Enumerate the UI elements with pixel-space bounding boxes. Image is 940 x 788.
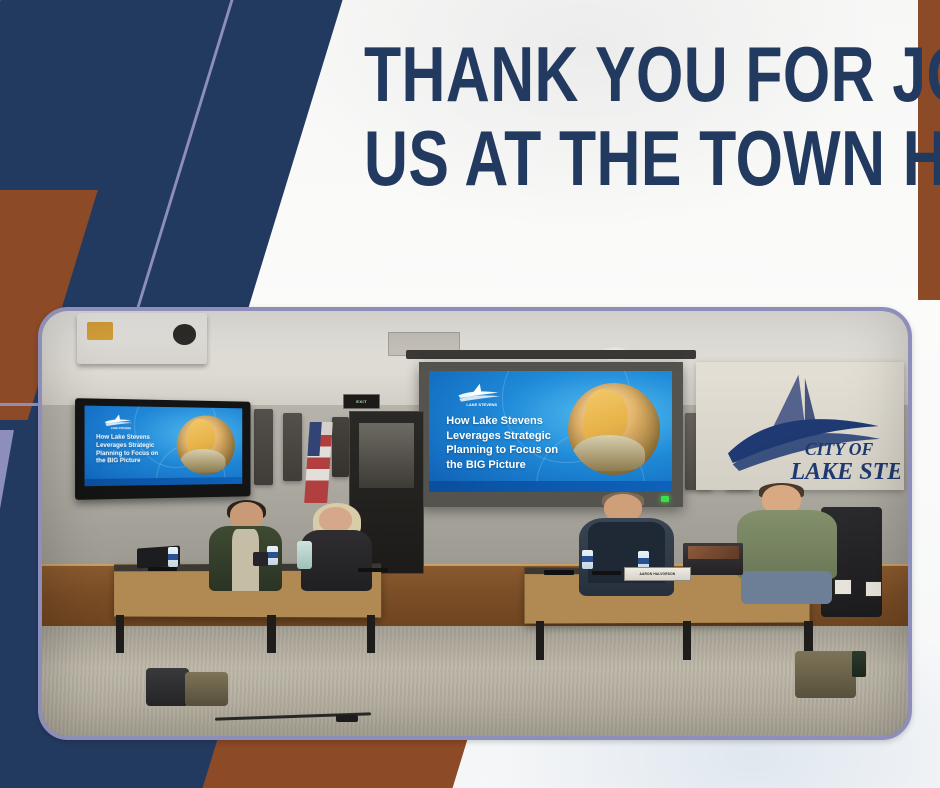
orange-band-bottom <box>193 740 467 788</box>
slide-title-line: How Lake Stevens <box>446 414 577 429</box>
slide-bottom-strip <box>84 477 241 486</box>
tablet-stand <box>683 543 744 575</box>
table-leg <box>116 615 125 653</box>
head <box>230 502 263 529</box>
table-microphone <box>544 570 573 574</box>
slide-title-line: Leverages Strategic <box>446 429 577 444</box>
backpack <box>146 668 189 706</box>
duffel-bag <box>185 672 228 706</box>
lake-stevens-logo-icon: LAKE STEVENS <box>446 382 519 409</box>
floor-shadow <box>42 626 908 669</box>
duffel-bag <box>795 651 856 698</box>
door-window <box>359 423 414 488</box>
projection-screen-roller <box>406 350 696 359</box>
projection-slide: LAKE STEVENS How Lake Stevens Leverages … <box>429 371 672 492</box>
wall-picture-frame <box>865 581 883 597</box>
person-seated-right-2 <box>735 485 839 604</box>
slide-bottom-strip <box>429 481 672 492</box>
acoustic-panel <box>332 417 349 477</box>
tv-slide-title: How Lake Stevens Leverages Strategic Pla… <box>96 435 183 467</box>
water-bottle <box>582 550 593 570</box>
torso <box>737 510 837 579</box>
name-placard: AARON HALVORSON <box>624 567 691 581</box>
table-microphone <box>358 568 387 572</box>
headline-line-2: US AT THE TOWN HALL <box>364 120 910 196</box>
city-of-lake-stevens-sign: CITY OF LAKE STEVENS <box>696 362 904 490</box>
slide-inset-photo <box>568 383 660 475</box>
insulated-tumbler <box>297 541 312 569</box>
head <box>604 494 642 522</box>
slide-title-line: the BIG Picture <box>446 458 577 473</box>
table-leg <box>367 615 376 653</box>
water-bottle <box>267 546 278 566</box>
svg-text:CITY OF: CITY OF <box>805 439 874 459</box>
wall-picture-frame <box>834 579 852 595</box>
table-microphone <box>592 571 621 575</box>
svg-text:LAKE STEVENS: LAKE STEVENS <box>790 459 900 482</box>
exit-sign: EXIT <box>343 394 380 410</box>
acoustic-panel <box>254 409 273 486</box>
svg-text:LAKE STEVENS: LAKE STEVENS <box>110 426 130 430</box>
headline: THANK YOU FOR JOINING US AT THE TOWN HAL… <box>210 36 910 197</box>
wall-mounted-tv: LAKE STEVENS How Lake Stevens Leverages … <box>75 398 250 499</box>
ceiling-projector-icon <box>77 313 207 364</box>
legs <box>741 571 832 604</box>
table-microphone <box>148 567 177 571</box>
table-leg <box>536 621 545 659</box>
tv-slide-title-line: the BIG Picture <box>96 459 183 467</box>
projection-slide-title: How Lake Stevens Leverages Strategic Pla… <box>446 414 577 472</box>
slide-title-line: Planning to Focus on <box>446 443 577 458</box>
table-leg <box>267 615 276 653</box>
floor-outlet-box <box>336 715 358 722</box>
lake-stevens-logo-icon: LAKE STEVENS <box>96 413 145 431</box>
tv-slide: LAKE STEVENS How Lake Stevens Leverages … <box>84 406 241 487</box>
table-leg <box>683 621 692 659</box>
headline-line-1: THANK YOU FOR JOINING <box>364 36 910 112</box>
projection-screen: LAKE STEVENS How Lake Stevens Leverages … <box>419 362 683 507</box>
slide-inset-photo <box>176 415 234 475</box>
acoustic-panel <box>283 413 302 481</box>
svg-text:LAKE STEVENS: LAKE STEVENS <box>467 402 498 407</box>
meeting-photo: LAKE STEVENS How Lake Stevens Leverages … <box>42 311 908 736</box>
thermos <box>852 651 866 677</box>
coffee-mug <box>253 552 268 566</box>
meeting-photo-card: LAKE STEVENS How Lake Stevens Leverages … <box>38 307 912 740</box>
head <box>319 507 352 533</box>
social-graphic-canvas: THANK YOU FOR JOINING US AT THE TOWN HAL… <box>0 0 940 788</box>
water-bottle <box>168 547 179 567</box>
